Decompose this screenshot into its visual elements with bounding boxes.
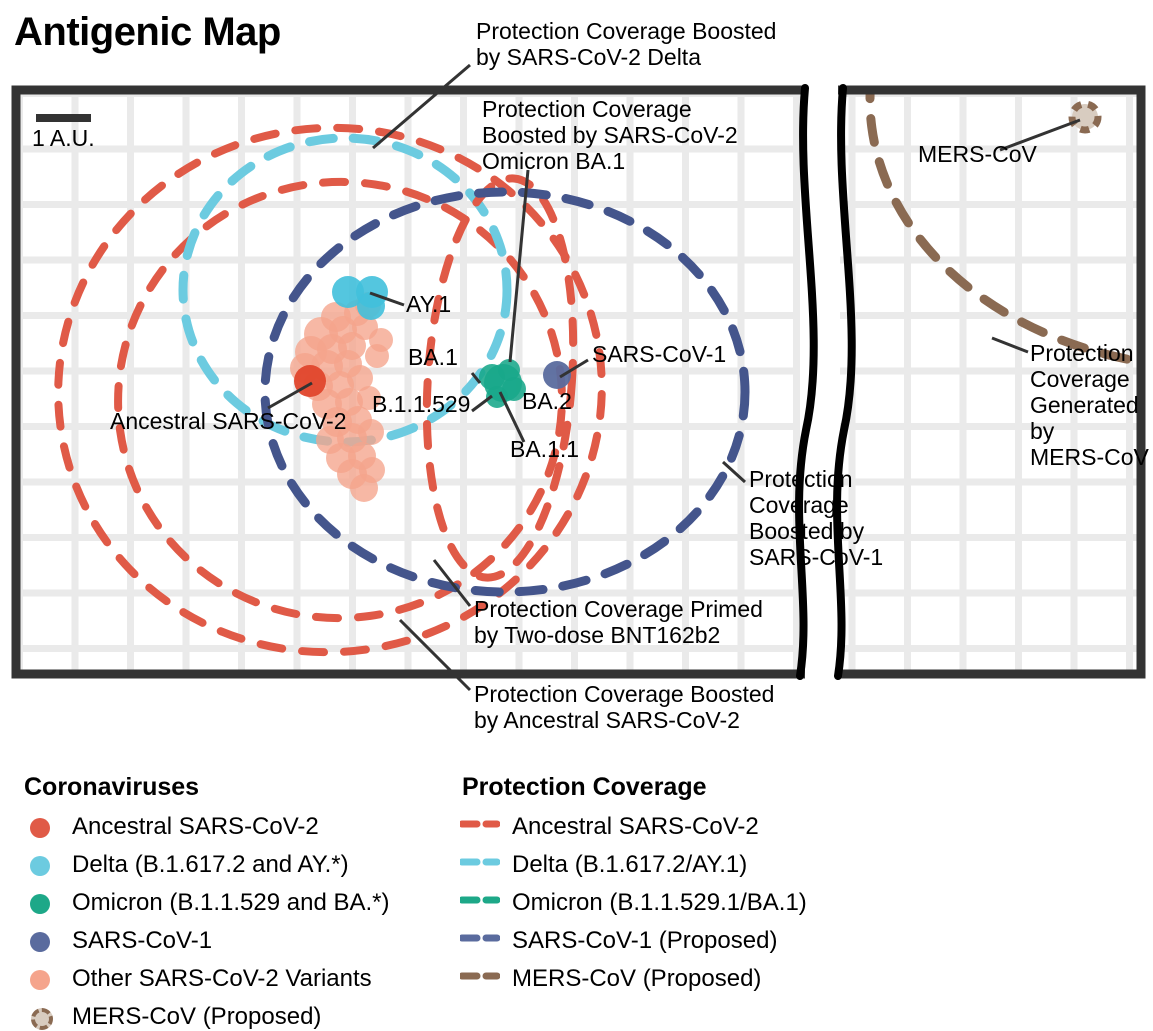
scale-bar-label: 1 A.U. — [32, 125, 95, 152]
legend-dash-delta-icon — [460, 856, 500, 868]
annotation-boosted-ancestral: Protection Coverage Boosted by Ancestral… — [474, 681, 774, 733]
legend-item-sars1[interactable]: SARS-CoV-1 — [72, 928, 212, 954]
point-label-ba1: BA.1 — [408, 345, 458, 370]
annotation-generated-mers: Protection Coverage Generated by MERS-Co… — [1030, 340, 1153, 470]
legend-coverage-omicron[interactable]: Omicron (B.1.1.529.1/BA.1) — [512, 890, 807, 916]
annotation-boosted-delta: Protection Coverage Boosted by SARS-CoV-… — [476, 18, 776, 70]
squiggle-left — [799, 88, 814, 676]
legend-coronaviruses-heading: Coronaviruses — [24, 773, 199, 802]
main-panel-grid — [16, 90, 800, 674]
legend-coverage-sars1[interactable]: SARS-CoV-1 (Proposed) — [512, 928, 777, 954]
legend-item-delta[interactable]: Delta (B.1.617.2 and AY.*) — [72, 852, 349, 878]
annotation-primed-bnt162b2: Protection Coverage Primed by Two-dose B… — [474, 596, 763, 648]
legend-dash-omicron-icon — [460, 894, 500, 906]
point-label-b11529: B.1.1.529 — [372, 392, 470, 417]
annotation-boosted-sars1: Protection Coverage Boosted by SARS-CoV-… — [749, 466, 883, 570]
point-label-mers-cov: MERS-CoV — [918, 142, 1037, 167]
point-label-sars-cov-1: SARS-CoV-1 — [592, 342, 726, 367]
legend-item-omicron[interactable]: Omicron (B.1.1.529 and BA.*) — [72, 890, 389, 916]
annotation-boosted-omicron-ba1: Protection Coverage Boosted by SARS-CoV-… — [482, 96, 738, 174]
point-label-ba11: BA.1.1 — [510, 437, 579, 462]
legend-coverage-mers[interactable]: MERS-CoV (Proposed) — [512, 966, 761, 992]
legend-coverage-ancestral[interactable]: Ancestral SARS-CoV-2 — [512, 814, 759, 840]
legend-swatch-sars1-icon — [30, 932, 50, 952]
legend-coverage-delta[interactable]: Delta (B.1.617.2/AY.1) — [512, 852, 747, 878]
legend-swatch-omicron-icon — [30, 894, 50, 914]
series-sars-cov-1 — [543, 361, 571, 389]
point-label-ancestral: Ancestral SARS-CoV-2 — [110, 408, 346, 435]
data-points-mers — [1072, 104, 1098, 130]
legend-dash-ancestral-icon — [460, 818, 500, 830]
legend-item-ancestral[interactable]: Ancestral SARS-CoV-2 — [72, 814, 319, 840]
legend-dash-mers-icon — [460, 970, 500, 982]
legend-swatch-mers-icon — [31, 1008, 53, 1030]
legend-item-other-variants[interactable]: Other SARS-CoV-2 Variants — [72, 966, 372, 992]
legend-dash-sars1-icon — [460, 932, 500, 944]
legend-protection-heading: Protection Coverage — [462, 773, 707, 802]
point-label-ba2: BA.2 — [522, 389, 572, 414]
point-label-ay1: AY.1 — [406, 292, 451, 317]
legend-swatch-other-variants-icon — [30, 970, 50, 990]
series-mers — [1072, 104, 1098, 130]
legend-swatch-ancestral-icon — [30, 818, 50, 838]
legend-item-mers[interactable]: MERS-CoV (Proposed) — [72, 1004, 321, 1030]
legend-swatch-delta-icon — [30, 856, 50, 876]
antigenic-map-figure: Antigenic Map — [0, 0, 1153, 1031]
